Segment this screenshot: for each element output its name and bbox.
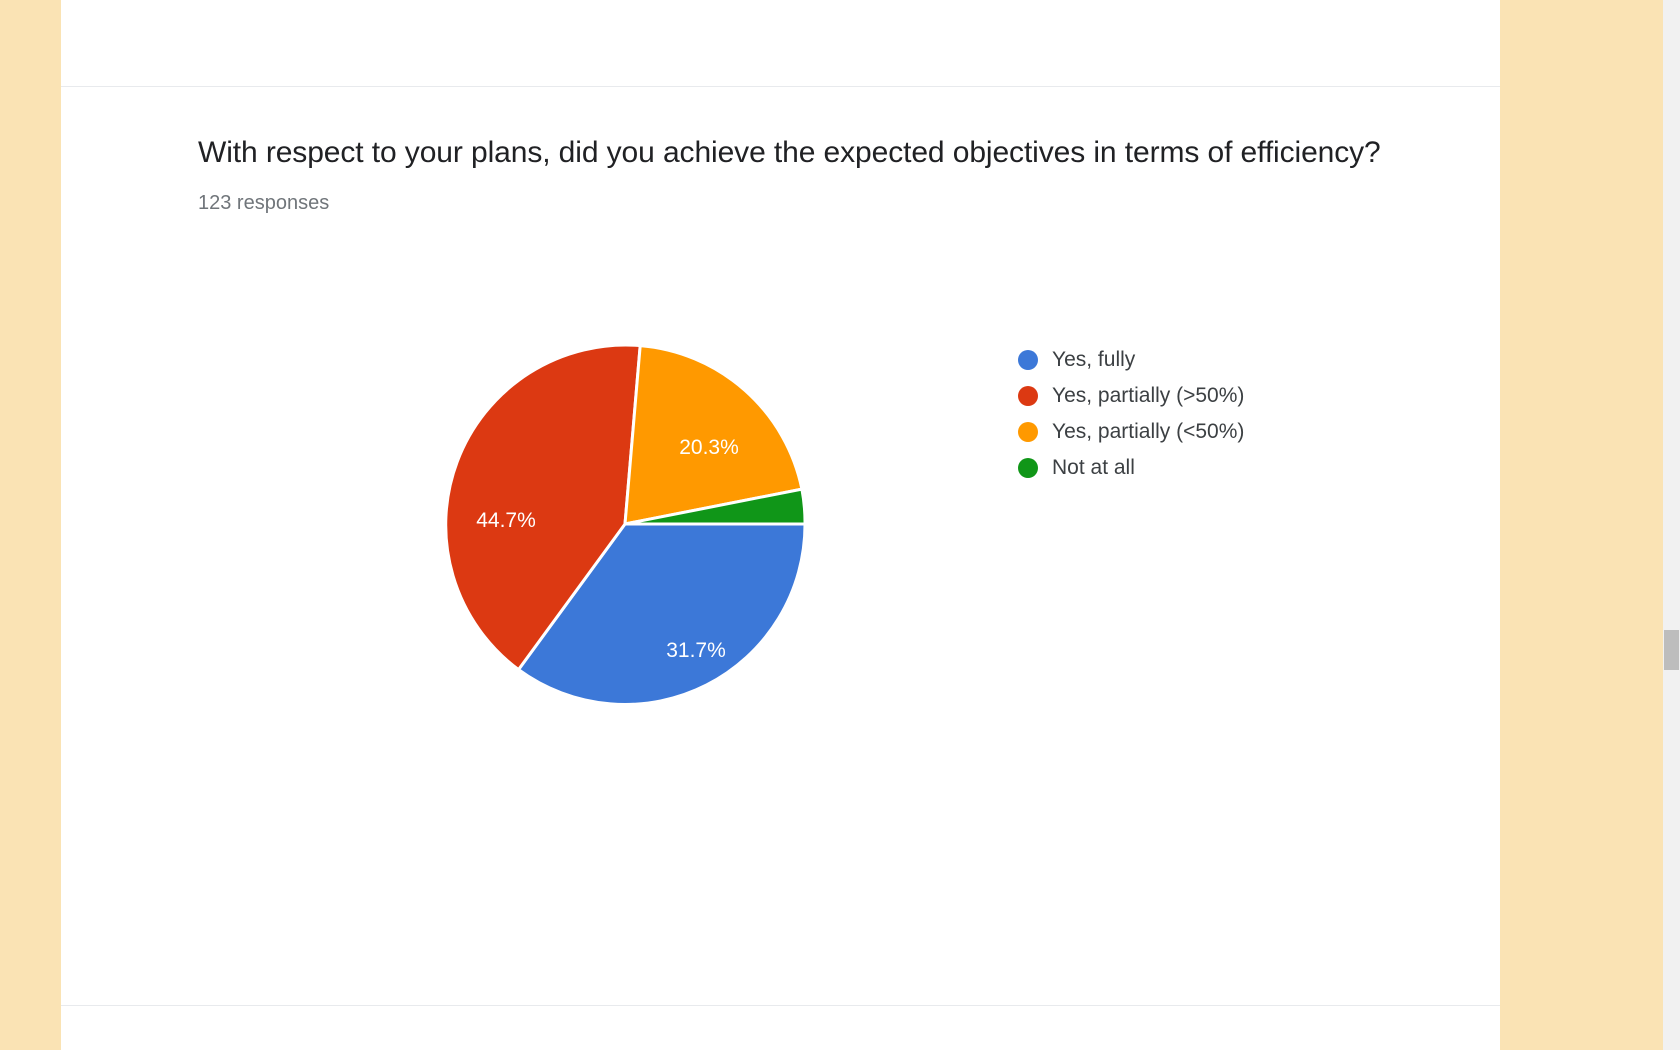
section-divider-bottom bbox=[61, 1005, 1500, 1006]
pie-label-yes-fully: 31.7% bbox=[666, 639, 726, 662]
legend-swatch-icon bbox=[1018, 350, 1038, 370]
question-response-card: With respect to your plans, did you achi… bbox=[61, 0, 1500, 1050]
legend-label: Yes, partially (<50%) bbox=[1052, 420, 1244, 444]
legend-item-yes-fully[interactable]: Yes, fully bbox=[1018, 342, 1438, 378]
chart-legend: Yes, fully Yes, partially (>50%) Yes, pa… bbox=[1018, 342, 1438, 486]
legend-item-yes-partially-gt50[interactable]: Yes, partially (>50%) bbox=[1018, 378, 1438, 414]
legend-label: Yes, fully bbox=[1052, 348, 1135, 372]
legend-swatch-icon bbox=[1018, 458, 1038, 478]
legend-label: Yes, partially (>50%) bbox=[1052, 384, 1244, 408]
pie-chart[interactable]: 31.7% 44.7% 20.3% bbox=[443, 342, 807, 706]
pie-chart-area: 31.7% 44.7% 20.3% Yes, fully Yes, partia… bbox=[198, 330, 1478, 750]
legend-label: Not at all bbox=[1052, 456, 1135, 480]
section-divider-top bbox=[61, 86, 1500, 87]
pie-label-yes-partially-lt50: 20.3% bbox=[679, 436, 739, 459]
legend-swatch-icon bbox=[1018, 422, 1038, 442]
legend-item-yes-partially-lt50[interactable]: Yes, partially (<50%) bbox=[1018, 414, 1438, 450]
legend-item-not-at-all[interactable]: Not at all bbox=[1018, 450, 1438, 486]
question-block: With respect to your plans, did you achi… bbox=[198, 130, 1488, 216]
page-title: With respect to your plans, did you achi… bbox=[198, 130, 1453, 176]
vertical-scrollbar[interactable] bbox=[1663, 0, 1680, 1050]
pie-chart-svg: 31.7% 44.7% 20.3% bbox=[443, 342, 807, 706]
pie-label-yes-partially-gt50: 44.7% bbox=[476, 509, 536, 532]
scrollbar-thumb[interactable] bbox=[1664, 630, 1679, 670]
response-count: 123 responses bbox=[198, 190, 1488, 216]
legend-swatch-icon bbox=[1018, 386, 1038, 406]
